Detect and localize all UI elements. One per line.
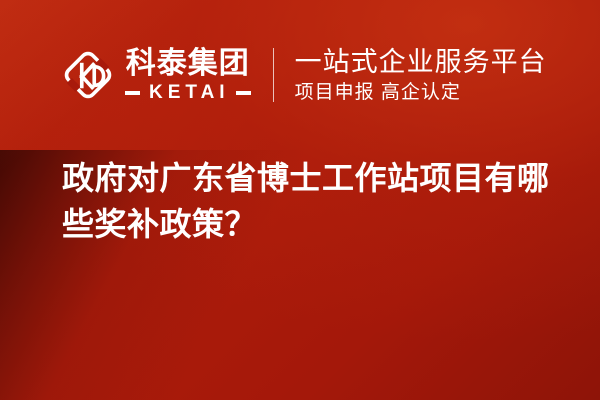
dash-left-icon: [125, 91, 140, 95]
tagline-sub: 项目申报 高企认定: [295, 82, 547, 104]
wordmark: 科泰集团 KETAI: [125, 48, 251, 102]
company-name-cn: 科泰集团: [126, 48, 250, 80]
headline-line-2: 些奖补政策？: [62, 201, 562, 247]
wordmark-en-row: KETAI: [125, 83, 251, 102]
tagline-main: 一站式企业服务平台: [295, 47, 547, 77]
vertical-divider: [273, 48, 274, 102]
dash-right-icon: [236, 91, 251, 95]
tagline-block: 一站式企业服务平台 项目申报 高企认定: [295, 47, 547, 104]
banner-header: 科泰集团 KETAI 一站式企业服务平台 项目申报 高企认定: [0, 0, 600, 150]
promo-banner: 科泰集团 KETAI 一站式企业服务平台 项目申报 高企认定 政府对广东省博士工…: [0, 0, 600, 400]
brand-lockup: 科泰集团 KETAI: [62, 48, 251, 102]
headline-line-1: 政府对广东省博士工作站项目有哪: [62, 155, 562, 201]
ketai-logo-icon: [62, 49, 114, 101]
headline-block: 政府对广东省博士工作站项目有哪 些奖补政策？: [62, 155, 562, 247]
company-name-en: KETAI: [140, 83, 236, 102]
